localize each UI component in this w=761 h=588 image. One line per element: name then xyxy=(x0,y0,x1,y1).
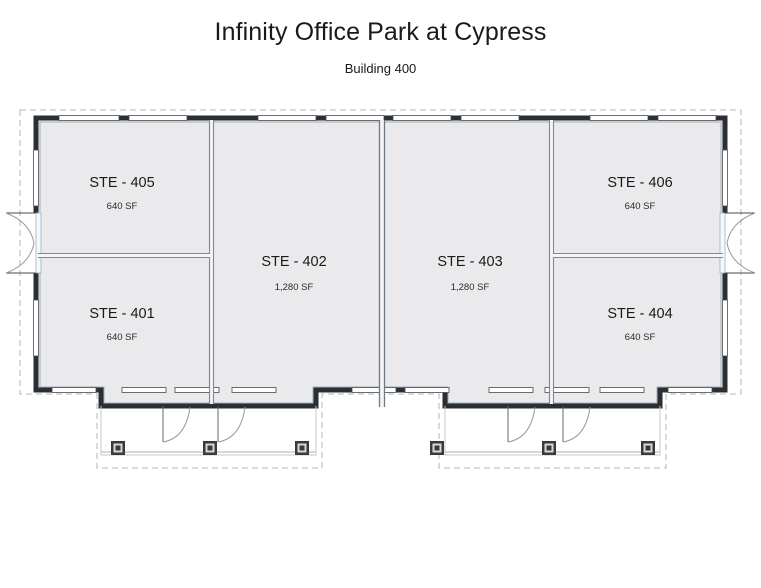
partition-403-406 xyxy=(549,120,554,407)
porch-column xyxy=(203,441,217,455)
floor-plan-page: Infinity Office Park at Cypress Building… xyxy=(0,0,761,588)
partition-402-403 xyxy=(379,120,385,407)
porch-column xyxy=(111,441,125,455)
porch-column xyxy=(542,441,556,455)
porch-column xyxy=(295,441,309,455)
suite-area-label: 640 SF xyxy=(625,201,656,212)
porch-columns-group xyxy=(111,441,655,455)
suite-name-label: STE - 402 xyxy=(261,254,326,270)
suite-area-label: 1,280 SF xyxy=(451,282,490,293)
suite-area-label: 640 SF xyxy=(107,201,138,212)
porch-column xyxy=(430,441,444,455)
floor-plan-drawing: STE - 405640 SFSTE - 401640 SFSTE - 4021… xyxy=(0,0,761,588)
suite-area-label: 640 SF xyxy=(107,332,138,343)
partition-405-402 xyxy=(209,120,214,407)
suite-name-label: STE - 404 xyxy=(607,306,672,322)
suite-area-label: 1,280 SF xyxy=(275,282,314,293)
south-left-double-door[interactable] xyxy=(163,404,245,442)
porch-column xyxy=(641,441,655,455)
suite-area-label: 640 SF xyxy=(625,332,656,343)
partition-406-404 xyxy=(553,253,723,258)
suite-name-label: STE - 401 xyxy=(89,306,154,322)
suite-name-label: STE - 406 xyxy=(607,175,672,191)
partition-405-401 xyxy=(38,253,210,258)
suite-name-label: STE - 403 xyxy=(437,254,502,270)
south-right-double-door[interactable] xyxy=(508,404,590,442)
suite-name-label: STE - 405 xyxy=(89,175,154,191)
